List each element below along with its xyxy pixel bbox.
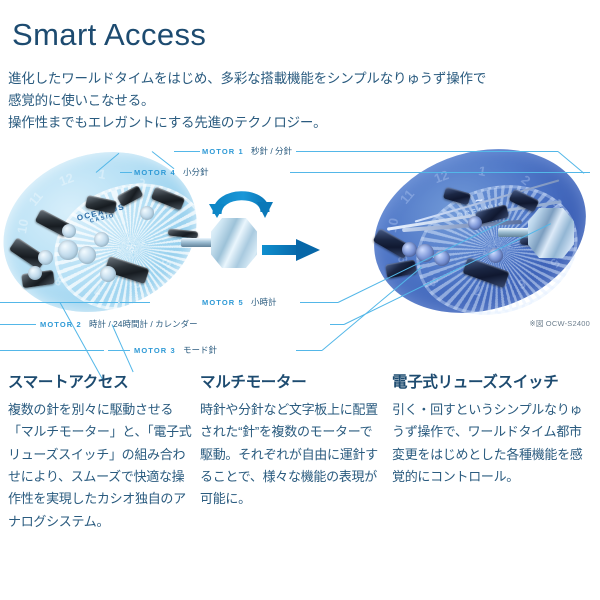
motor-id: MOTOR 3 xyxy=(134,346,176,355)
crown-stem xyxy=(181,238,215,247)
column-heading: 電子式リューズスイッチ xyxy=(392,374,592,391)
motor-label-5: MOTOR 5 小時計 xyxy=(202,298,276,307)
motor-desc: 時計 / 24時間計 / カレンダー xyxy=(89,319,198,329)
motor-desc: モード針 xyxy=(183,345,217,355)
motor-desc: 小分針 xyxy=(183,167,209,177)
motor-desc: 小時計 xyxy=(251,297,277,307)
dial-numeral: 11 xyxy=(26,188,46,208)
column-heading: スマートアクセス xyxy=(8,374,194,391)
leader-line xyxy=(120,302,150,303)
leader-line xyxy=(296,151,558,152)
feature-column-crown-switch: 電子式リューズスイッチ 引く・回すというシンプルなりゅうず操作で、ワールドタイム… xyxy=(392,374,592,488)
motor-coil xyxy=(58,240,78,260)
motor-id: MOTOR 4 xyxy=(134,168,176,177)
leader-line xyxy=(290,172,590,173)
leader-line xyxy=(0,324,36,325)
intro-line-3: 操作性までもエレガントにする先進のテクノロジー。 xyxy=(8,112,592,134)
movement-diagram: 123456789101112 ~ OCEANUS CASIO xyxy=(0,138,600,368)
dial-numeral: 11 xyxy=(397,186,417,206)
motor-coil xyxy=(62,224,76,238)
motor-label-3: MOTOR 3 モード針 xyxy=(134,346,217,355)
leader-line xyxy=(300,302,338,303)
leader-line xyxy=(112,324,134,372)
intro-paragraph: 進化したワールドタイムをはじめ、多彩な搭載機能をシンプルなりゅうず操作で 感覚的… xyxy=(8,68,592,134)
leader-line xyxy=(330,324,344,325)
leader-line xyxy=(120,172,132,173)
motor-coil xyxy=(468,216,482,230)
leader-line xyxy=(174,151,200,152)
dial-numeral: 12 xyxy=(432,167,451,186)
motor-coil xyxy=(38,250,53,265)
motor-coil xyxy=(402,242,417,257)
motor-desc: 秒針 / 分針 xyxy=(251,146,292,156)
motor-id: MOTOR 1 xyxy=(202,147,244,156)
dial-numeral: 12 xyxy=(57,170,76,189)
intro-line-2: 感覚的に使いこなせる。 xyxy=(8,90,592,112)
column-body: 引く・回すというシンプルなりゅうず操作で、ワールドタイム都市変更をはじめとした各… xyxy=(392,399,592,488)
motor-id: MOTOR 5 xyxy=(202,298,244,307)
crown-nut xyxy=(211,218,257,268)
motor-coil xyxy=(100,266,116,282)
rotate-crown-arrow xyxy=(208,182,274,218)
crown-left-position xyxy=(203,214,265,272)
smart-access-page: Smart Access 進化したワールドタイムをはじめ、多彩な搭載機能をシンプ… xyxy=(0,0,600,600)
page-title: Smart Access xyxy=(12,18,206,52)
column-body: 複数の針を別々に駆動させる「マルチモーター」と、「電子式リューズスイッチ」の組み… xyxy=(8,399,194,533)
motor-coil xyxy=(28,266,42,280)
motor-id: MOTOR 2 xyxy=(40,320,82,329)
motor-coil xyxy=(140,206,154,220)
motor-coil xyxy=(94,232,109,247)
column-heading: マルチモーター xyxy=(200,374,382,391)
feature-column-smart-access: スマートアクセス 複数の針を別々に駆動させる「マルチモーター」と、「電子式リュー… xyxy=(8,374,194,533)
dial-numeral: 1 xyxy=(477,163,487,179)
leader-line xyxy=(296,350,322,351)
motor-label-2: MOTOR 2 時計 / 24時間計 / カレンダー xyxy=(40,320,198,329)
motor-label-4: MOTOR 4 小分針 xyxy=(134,168,208,177)
left-watch-movement: 123456789101112 ~ OCEANUS CASIO xyxy=(2,154,198,310)
leader-line xyxy=(108,350,130,351)
feature-column-multi-motor: マルチモーター 時針や分針など文字板上に配置された“針”を複数のモーターで駆動。… xyxy=(200,374,382,511)
motor-coil xyxy=(434,250,450,266)
push-crown-arrow xyxy=(262,238,320,262)
column-body: 時針や分針など文字板上に配置された“針”を複数のモーターで駆動。それぞれが自由に… xyxy=(200,399,382,511)
motor-label-1: MOTOR 1 秒針 / 分針 xyxy=(202,147,292,156)
dial-numeral: 10 xyxy=(14,218,31,235)
figure-note: ※図 OCW-S2400 xyxy=(529,318,590,329)
crown-nut xyxy=(528,208,574,258)
intro-line-1: 進化したワールドタイムをはじめ、多彩な搭載機能をシンプルなりゅうず操作で xyxy=(8,68,592,90)
leader-line xyxy=(60,302,105,381)
motor-coil xyxy=(78,246,96,264)
leader-line xyxy=(0,350,104,351)
